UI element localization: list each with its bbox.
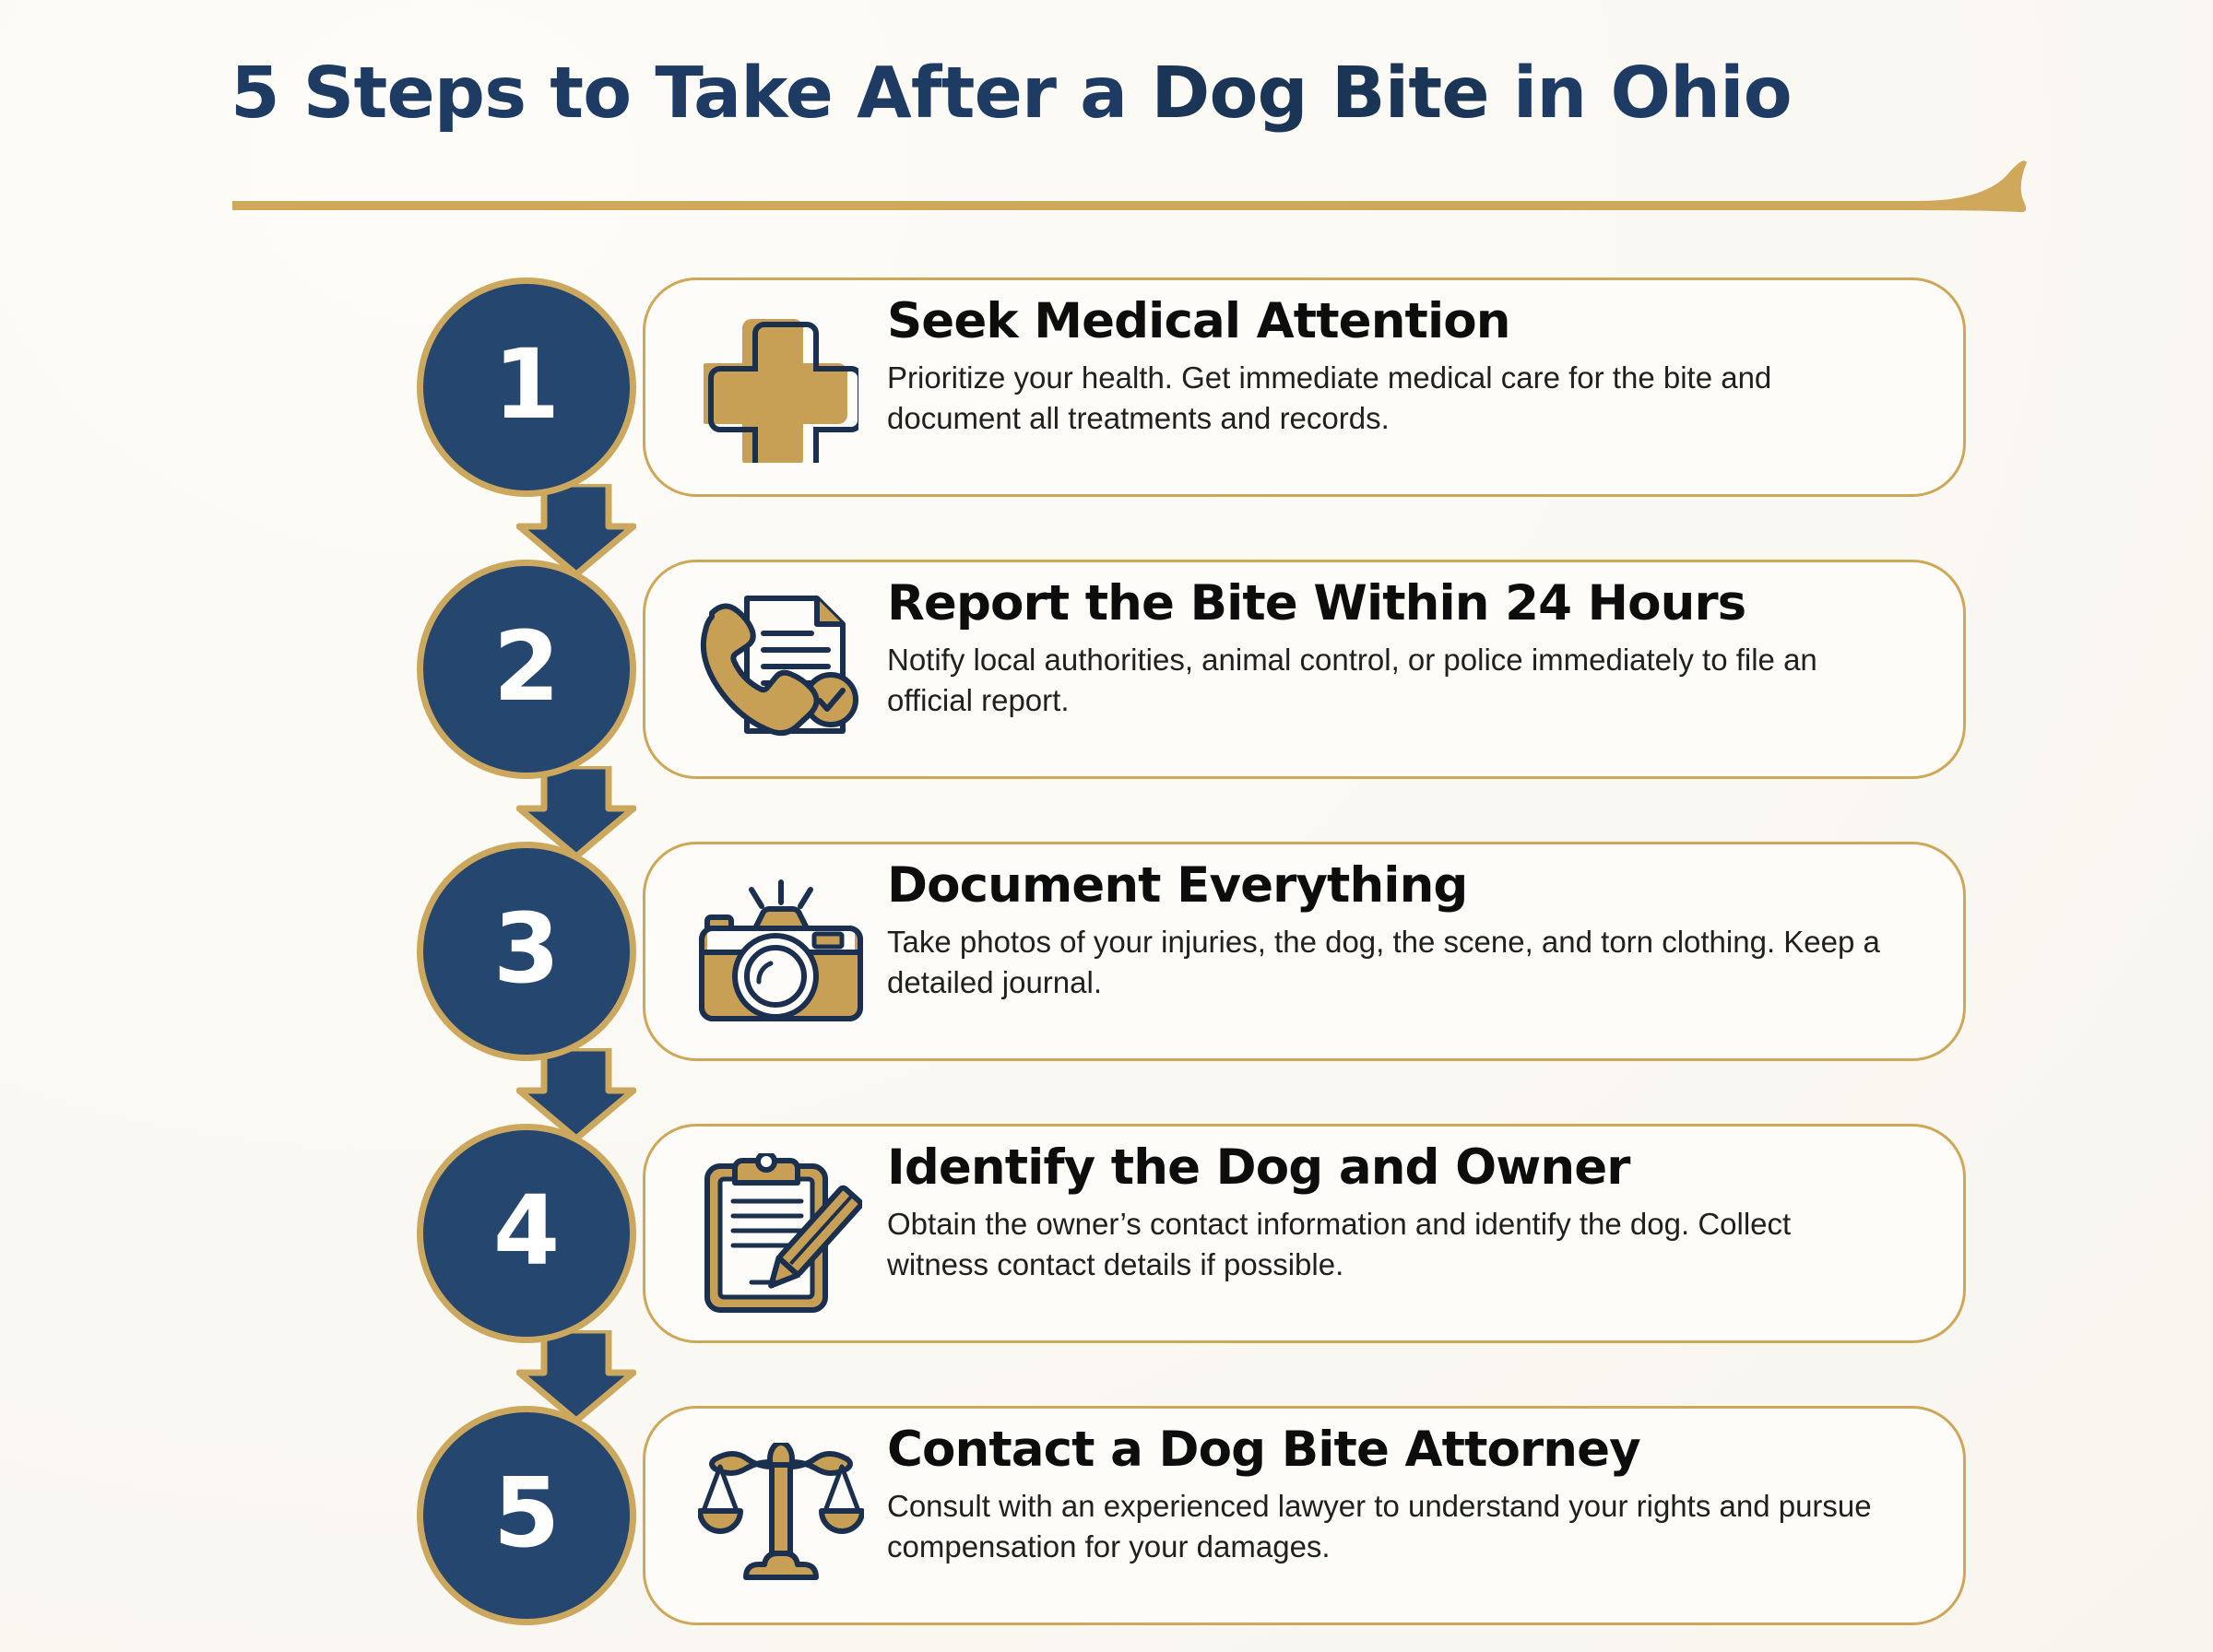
- step-icon-container: [695, 871, 867, 1033]
- step-description: Notify local authorities, animal control…: [887, 640, 1883, 721]
- gold-swoosh-underline-icon: [231, 157, 2075, 218]
- step-item-1[interactable]: 1 Seek Medical Attention Prioritize your…: [417, 277, 1966, 497]
- page-title: 5 Steps to Take After a Dog Bite in Ohio: [231, 57, 2065, 130]
- header: 5 Steps to Take After a Dog Bite in Ohio: [231, 57, 2065, 130]
- step-description: Obtain the owner’s contact information a…: [887, 1204, 1883, 1285]
- page-title-highlight: Dog Bite: [1151, 53, 1488, 135]
- step-icon-container: [695, 1435, 867, 1598]
- step-number: 3: [493, 901, 560, 997]
- clipboard-pencil-icon: [700, 1153, 862, 1316]
- step-title: Contact a Dog Bite Attorney: [887, 1422, 1906, 1477]
- step-title: Identify the Dog and Owner: [887, 1140, 1906, 1195]
- step-text: Seek Medical Attention Prioritize your h…: [887, 294, 1906, 439]
- title-underline: [231, 157, 2075, 218]
- page-title-part1: 5 Steps to Take After a: [231, 53, 1151, 135]
- step-text: Contact a Dog Bite Attorney Consult with…: [887, 1422, 1906, 1567]
- step-text: Document Everything Take photos of your …: [887, 858, 1906, 1003]
- step-title: Document Everything: [887, 858, 1906, 913]
- step-icon-container: [695, 589, 867, 751]
- step-icon-container: [695, 307, 867, 469]
- step-description: Take photos of your injuries, the dog, t…: [887, 922, 1883, 1003]
- step-item-3[interactable]: 3: [417, 842, 1966, 1061]
- camera-icon: [698, 879, 864, 1026]
- step-text: Identify the Dog and Owner Obtain the ow…: [887, 1140, 1906, 1285]
- step-description: Consult with an experienced lawyer to un…: [887, 1486, 1883, 1567]
- phone-document-check-icon: [699, 593, 863, 748]
- step-flow-connectors: [0, 0, 2213, 1652]
- step-number-badge: 3: [417, 842, 636, 1061]
- step-number: 1: [493, 336, 560, 432]
- step-number: 5: [493, 1465, 560, 1561]
- step-number-badge: 1: [417, 277, 636, 497]
- step-number-badge: 2: [417, 560, 636, 779]
- step-number: 2: [493, 619, 560, 714]
- step-title: Seek Medical Attention: [887, 294, 1906, 348]
- medical-cross-icon: [704, 313, 858, 463]
- step-item-4[interactable]: 4: [417, 1124, 1966, 1343]
- step-number-badge: 5: [417, 1406, 636, 1625]
- step-icon-container: [695, 1153, 867, 1316]
- step-item-5[interactable]: 5 Contact a Dog Bite Attorney: [417, 1406, 1966, 1625]
- step-number: 4: [493, 1183, 560, 1279]
- scales-of-justice-icon: [698, 1443, 864, 1590]
- step-number-badge: 4: [417, 1124, 636, 1343]
- step-item-2[interactable]: 2 Repo: [417, 560, 1966, 779]
- step-title: Report the Bite Within 24 Hours: [887, 576, 1906, 631]
- step-text: Report the Bite Within 24 Hours Notify l…: [887, 576, 1906, 721]
- infographic-sheet: 5 Steps to Take After a Dog Bite in Ohio: [0, 0, 2213, 1652]
- step-description: Prioritize your health. Get immediate me…: [887, 358, 1883, 439]
- page-title-part2: in Ohio: [1489, 53, 1792, 135]
